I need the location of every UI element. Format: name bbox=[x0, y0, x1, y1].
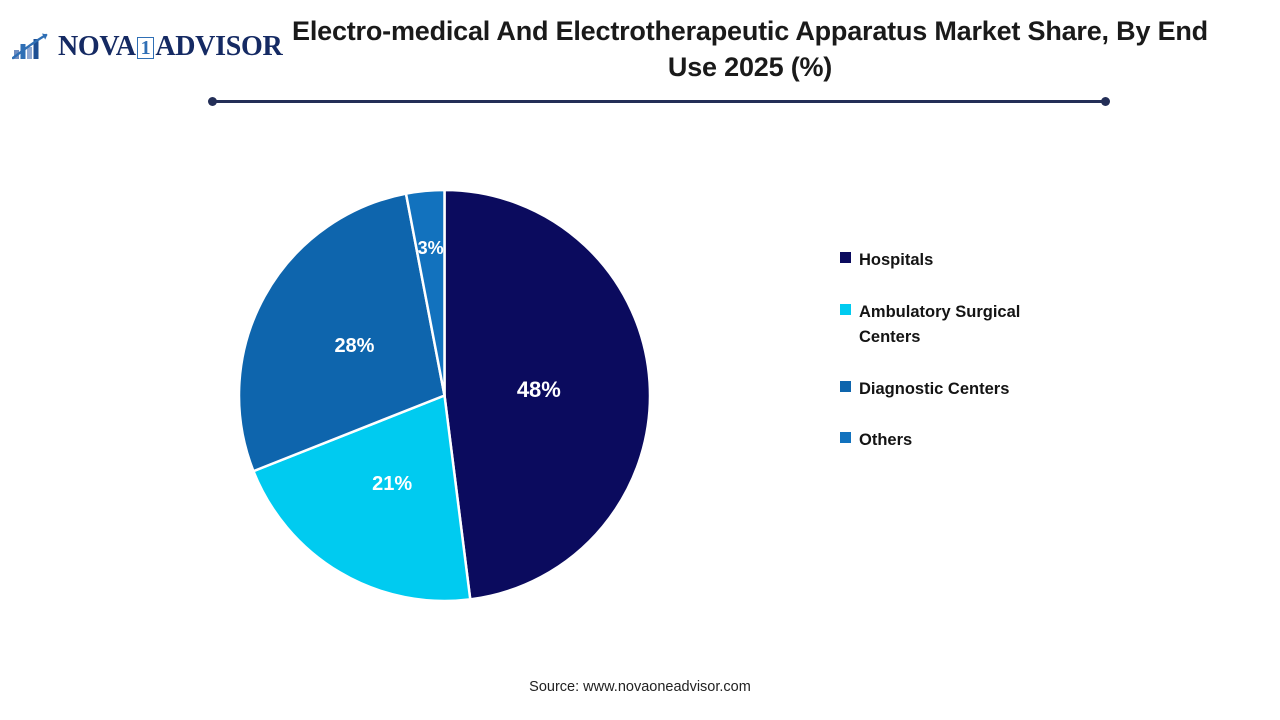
legend-label-hospitals: Hospitals bbox=[859, 248, 933, 274]
pie-slice-label: 21% bbox=[372, 473, 412, 495]
legend-item-hospitals[interactable]: Hospitals bbox=[840, 248, 1100, 274]
pie-chart-svg: 48%21%28%3% bbox=[239, 190, 650, 601]
bar-chart-swoosh-icon bbox=[12, 31, 56, 63]
legend-swatch-ambulatory-surgical-centers bbox=[840, 304, 851, 315]
legend-swatch-hospitals bbox=[840, 252, 851, 263]
pie-slice-label: 48% bbox=[517, 377, 561, 402]
page-title: Electro-medical And Electrotherapeutic A… bbox=[290, 14, 1210, 86]
chart-legend: Hospitals Ambulatory Surgical Centers Di… bbox=[840, 248, 1100, 454]
legend-swatch-others bbox=[840, 432, 851, 443]
brand-logo-text-before: NOVA bbox=[58, 33, 136, 61]
legend-item-ambulatory-surgical-centers[interactable]: Ambulatory Surgical Centers bbox=[840, 300, 1100, 351]
legend-swatch-diagnostic-centers bbox=[840, 381, 851, 392]
legend-item-others[interactable]: Others bbox=[840, 428, 1100, 454]
brand-logo[interactable]: NOVA1ADVISOR bbox=[12, 27, 282, 67]
divider-dot-right bbox=[1101, 97, 1110, 106]
title-divider bbox=[208, 97, 1110, 106]
source-note: Source: www.novaoneadvisor.com bbox=[0, 679, 1280, 695]
divider-rule bbox=[212, 100, 1106, 103]
legend-label-ambulatory-surgical-centers: Ambulatory Surgical Centers bbox=[859, 300, 1069, 351]
pie-slice-label: 28% bbox=[334, 335, 374, 357]
chart-page: { "brand": { "logo_text_before": "NOVA",… bbox=[0, 0, 1280, 720]
pie-slice-label: 3% bbox=[418, 238, 444, 258]
pie-slice-group bbox=[239, 190, 650, 601]
brand-logo-text-after: ADVISOR bbox=[155, 33, 282, 61]
brand-logo-badge: 1 bbox=[137, 37, 155, 59]
pie-chart: 48%21%28%3% bbox=[239, 190, 650, 601]
legend-item-diagnostic-centers[interactable]: Diagnostic Centers bbox=[840, 377, 1100, 403]
brand-logo-text: NOVA1ADVISOR bbox=[58, 33, 282, 61]
legend-label-others: Others bbox=[859, 428, 912, 454]
legend-label-diagnostic-centers: Diagnostic Centers bbox=[859, 377, 1009, 403]
